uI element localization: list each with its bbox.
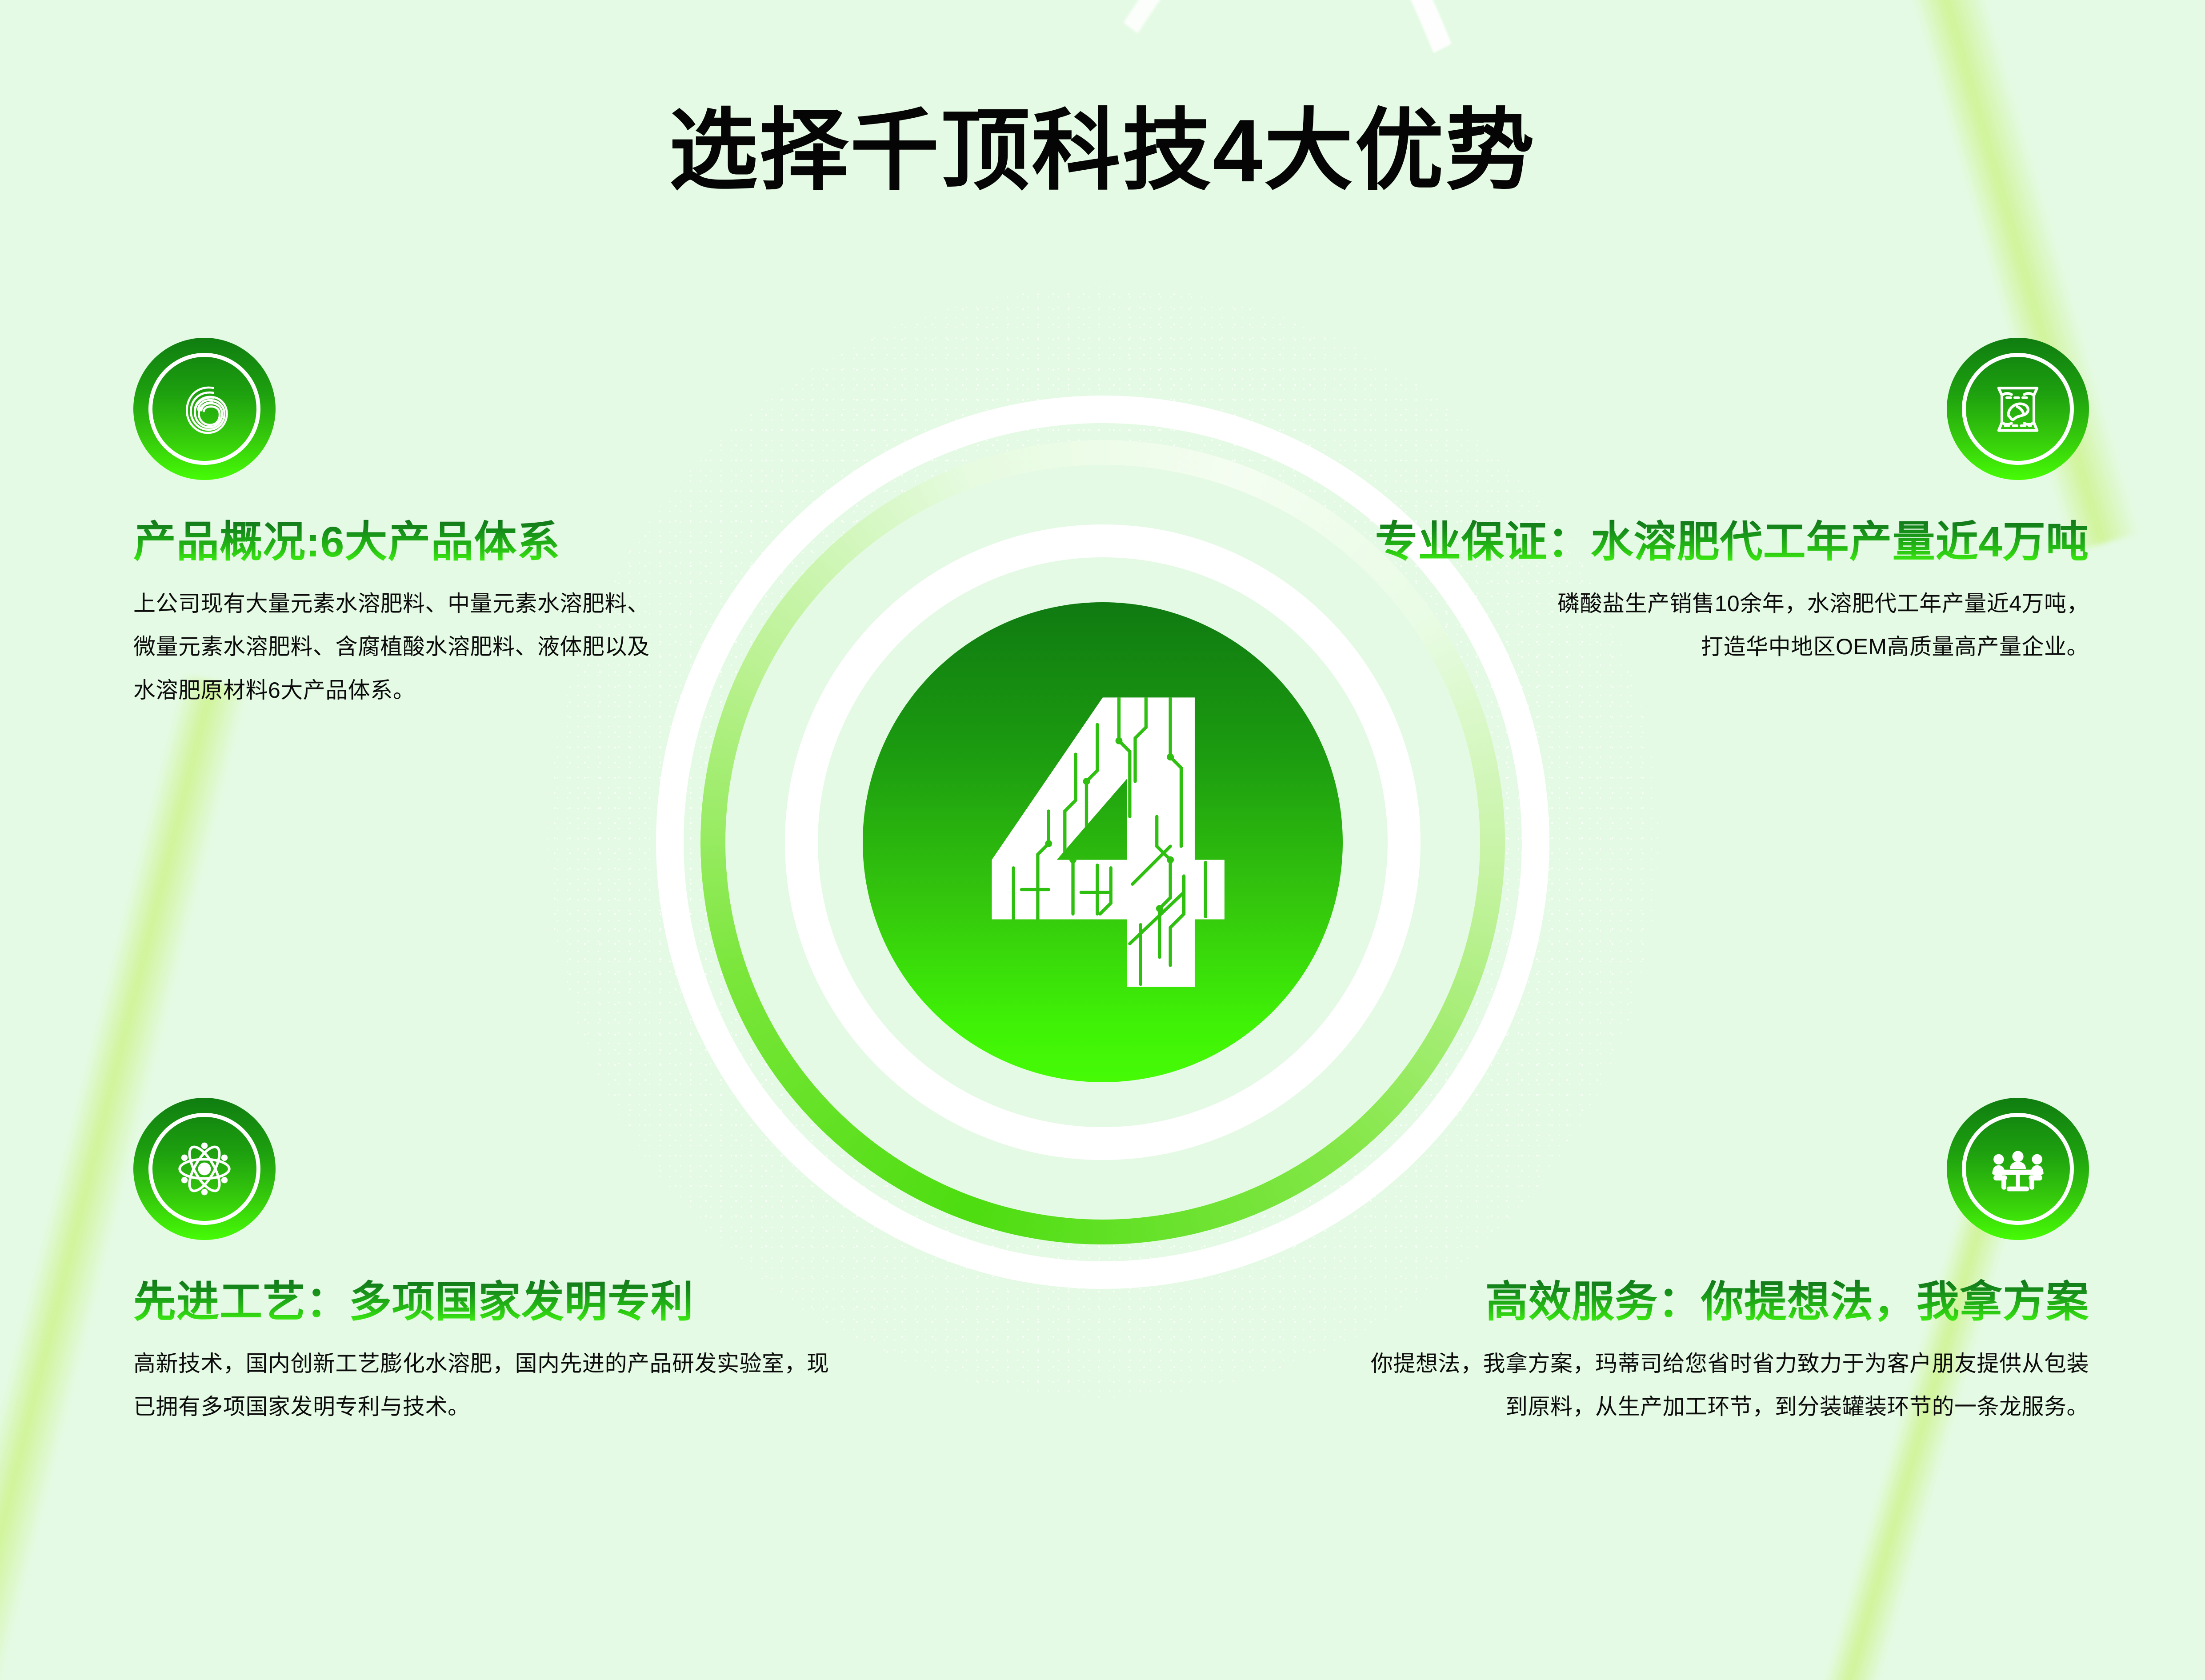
poster-canvas: 选择千顶科技4大优势 产品概况:6大产品体系 上公司现有大量元素水溶肥料、中量元… [0, 0, 2205, 1680]
feature-icon-badge [133, 1098, 276, 1240]
feature-body-text: 上公司现有大量元素水溶肥料、中量元素水溶肥料、微量元素水溶肥料、含腐植酸水溶肥料… [133, 582, 671, 712]
feature-block-product-overview: 产品概况:6大产品体系 上公司现有大量元素水溶肥料、中量元素水溶肥料、微量元素水… [133, 338, 809, 712]
number-six-spiral-icon [164, 369, 244, 449]
feature-heading: 专业保证：水溶肥代工年产量近4万吨 [1200, 518, 2089, 566]
feature-icon-badge [1947, 338, 2089, 480]
feature-heading: 先进工艺：多项国家发明专利 [133, 1278, 933, 1326]
feature-heading: 高效服务：你提想法，我拿方案 [1289, 1278, 2089, 1326]
atom-icon [164, 1129, 244, 1209]
feature-icon-badge [133, 338, 276, 480]
circuit-number-four-icon [965, 687, 1241, 998]
center-number-disc [863, 602, 1343, 1082]
fertilizer-bag-icon [1978, 369, 2058, 449]
feature-heading: 产品概况:6大产品体系 [133, 518, 809, 566]
meeting-team-icon [1978, 1129, 2058, 1209]
feature-icon-badge [1947, 1098, 2089, 1240]
feature-block-advanced-process: 先进工艺：多项国家发明专利 高新技术，国内创新工艺膨化水溶肥，国内先进的产品研发… [133, 1098, 933, 1429]
feature-body-text: 你提想法，我拿方案，玛蒂司给您省时省力致力于为客户朋友提供从包装到原料，从生产加… [1360, 1342, 2089, 1429]
feature-block-professional-guarantee: 专业保证：水溶肥代工年产量近4万吨 磷酸盐生产销售10余年，水溶肥代工年产量近4… [1200, 338, 2089, 669]
feature-block-efficient-service: 高效服务：你提想法，我拿方案 你提想法，我拿方案，玛蒂司给您省时省力致力于为客户… [1289, 1098, 2089, 1429]
feature-body-text: 高新技术，国内创新工艺膨化水溶肥，国内先进的产品研发实验室，现已拥有多项国家发明… [133, 1342, 849, 1429]
page-title: 选择千顶科技4大优势 [0, 107, 2205, 196]
feature-body-text: 磷酸盐生产销售10余年，水溶肥代工年产量近4万吨，打造华中地区OEM高质量高产量… [1542, 582, 2089, 669]
